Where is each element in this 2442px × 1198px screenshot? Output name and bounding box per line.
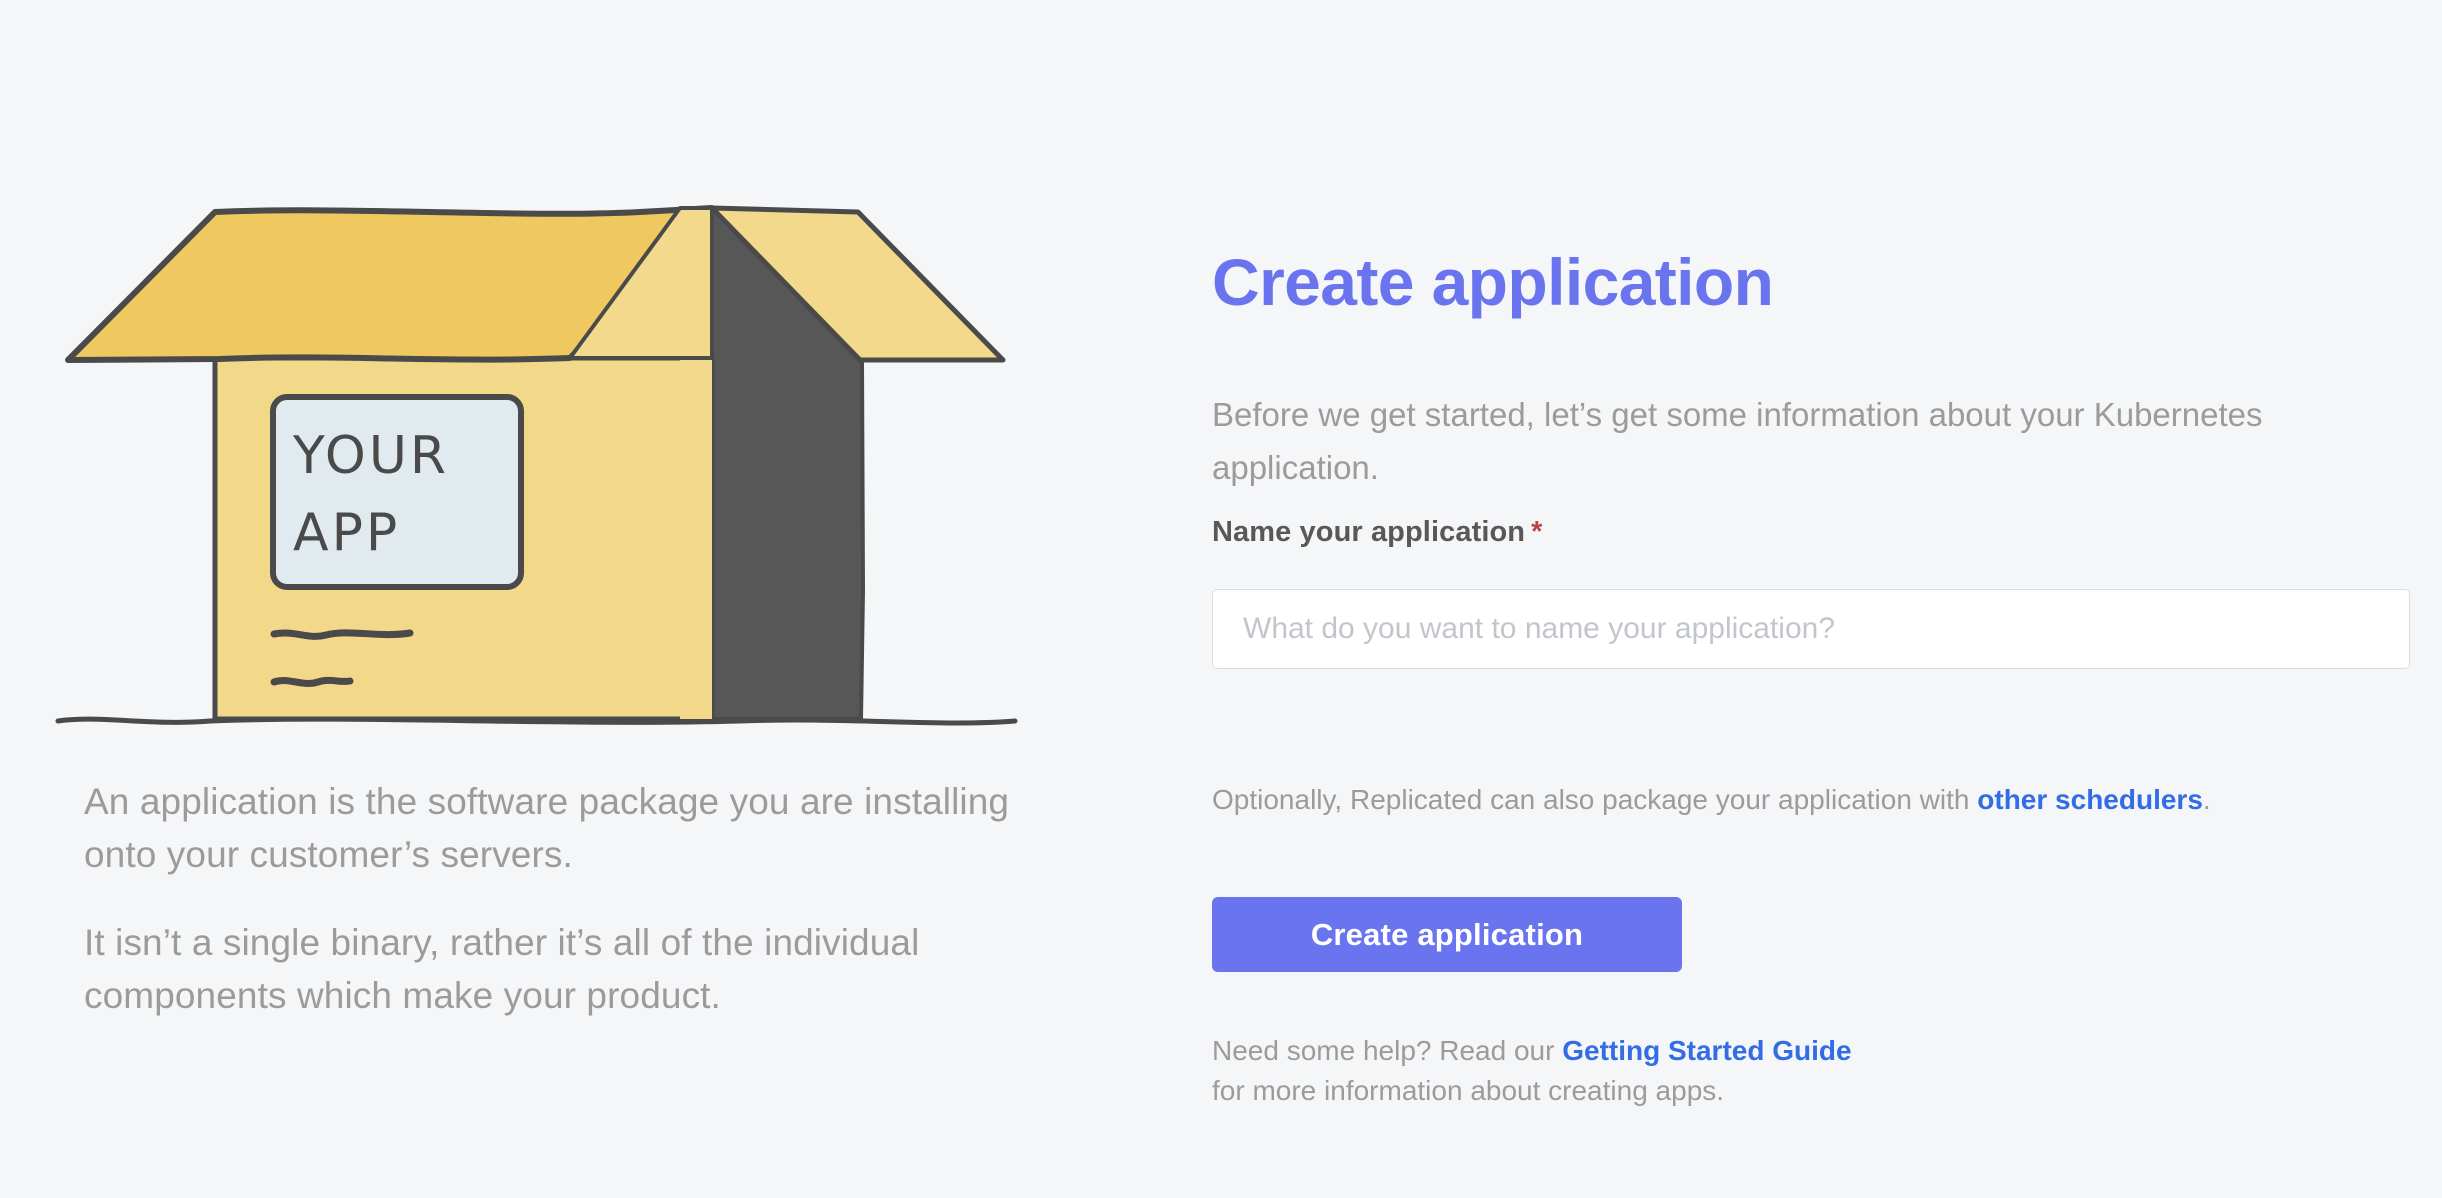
application-name-input[interactable] (1212, 589, 2410, 669)
left-description: An application is the software package y… (84, 775, 1044, 1022)
help-note-prefix: Need some help? Read our (1212, 1035, 1562, 1066)
cardboard-box-illustration: YOUR APP (40, 170, 1060, 750)
required-asterisk: * (1531, 516, 1542, 548)
box-label-line1: YOUR (292, 426, 449, 486)
form-subtitle: Before we get started, let’s get some in… (1212, 388, 2347, 495)
left-paragraph-2: It isn’t a single binary, rather it’s al… (84, 916, 1044, 1023)
left-info-column: YOUR APP An application is the software … (0, 0, 1140, 1198)
create-application-page: YOUR APP An application is the software … (0, 0, 2442, 1198)
optional-note-prefix: Optionally, Replicated can also package … (1212, 784, 1977, 815)
optional-schedulers-note: Optionally, Replicated can also package … (1212, 780, 2211, 819)
page-title: Create application (1212, 249, 1773, 315)
box-line-2 (274, 680, 350, 683)
create-application-button[interactable]: Create application (1212, 897, 1682, 972)
help-note-suffix: for more information about creating apps… (1212, 1071, 2032, 1111)
box-line-1 (274, 633, 410, 637)
box-label-line2: APP (293, 503, 400, 563)
create-application-form: Create application Before we get started… (1212, 0, 2442, 1198)
getting-started-guide-link[interactable]: Getting Started Guide (1562, 1035, 1851, 1066)
left-paragraph-1: An application is the software package y… (84, 775, 1044, 882)
other-schedulers-link[interactable]: other schedulers (1977, 784, 2203, 815)
name-field-label: Name your application* (1212, 516, 1543, 549)
optional-note-suffix: . (2203, 784, 2211, 815)
name-field-label-text: Name your application (1212, 516, 1525, 548)
help-note: Need some help? Read our Getting Started… (1212, 1031, 2032, 1111)
